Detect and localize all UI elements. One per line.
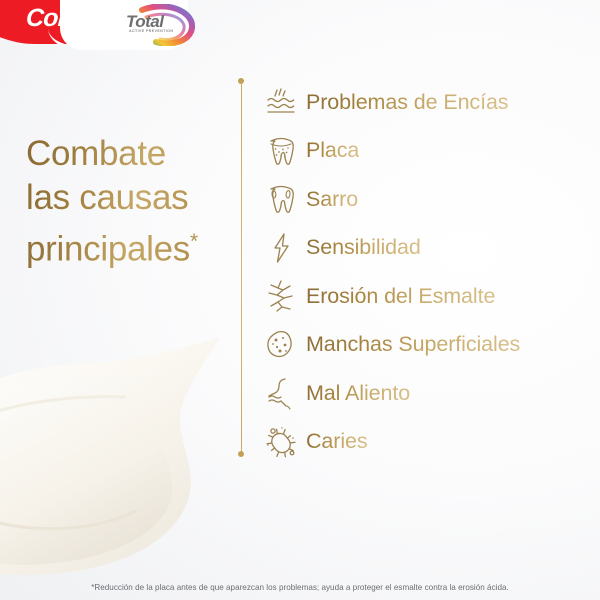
headline-line-2: las causas [26, 178, 188, 217]
footnote-disclaimer: *Reducción de la placa antes de que apar… [0, 583, 600, 592]
ad-canvas: Colgate ® Total ACTIVE PREVENT [0, 0, 600, 600]
bacteria-icon [258, 425, 304, 459]
headline-line-1: Combate [26, 134, 166, 173]
gum-waves-icon [258, 87, 304, 117]
lightning-bolt-icon [258, 231, 304, 265]
list-item-label: Mal Aliento [304, 383, 410, 405]
list-item: Problemas de Encías [258, 78, 596, 127]
list-item: Sensibilidad [258, 224, 596, 273]
headline-line-3: principales [26, 230, 190, 269]
divider-dot-bottom [238, 451, 244, 457]
list-item: Placa [258, 127, 596, 176]
tooth-tartar-icon [258, 182, 304, 216]
list-item: Mal Aliento [258, 369, 596, 418]
breath-vapor-icon [258, 376, 304, 410]
headline-asterisk: * [190, 230, 198, 253]
vertical-divider [241, 82, 242, 454]
benefits-list: Problemas de Encías Placa [258, 78, 596, 466]
list-item: Sarro [258, 175, 596, 224]
toothpaste-swirl-image [0, 335, 250, 595]
list-item: Manchas Superficiales [258, 321, 596, 370]
list-item-label: Problemas de Encías [304, 92, 508, 114]
list-item: Erosión del Esmalte [258, 272, 596, 321]
list-item-label: Placa [304, 140, 359, 162]
list-item-label: Sensibilidad [304, 237, 421, 259]
list-item-label: Sarro [304, 189, 358, 211]
page-title: Combate las causas principales* [26, 132, 241, 272]
tooth-plaque-icon [258, 134, 304, 168]
list-item-label: Caries [304, 431, 368, 453]
enamel-crack-icon [258, 279, 304, 313]
list-item: Caries [258, 418, 596, 467]
total-tagline: ACTIVE PREVENTION [129, 29, 173, 33]
list-item-label: Manchas Superficiales [304, 334, 520, 356]
total-logo-lockup: Total ACTIVE PREVENTION [126, 4, 198, 46]
stain-blob-icon [258, 329, 304, 361]
list-item-label: Erosión del Esmalte [304, 286, 495, 308]
